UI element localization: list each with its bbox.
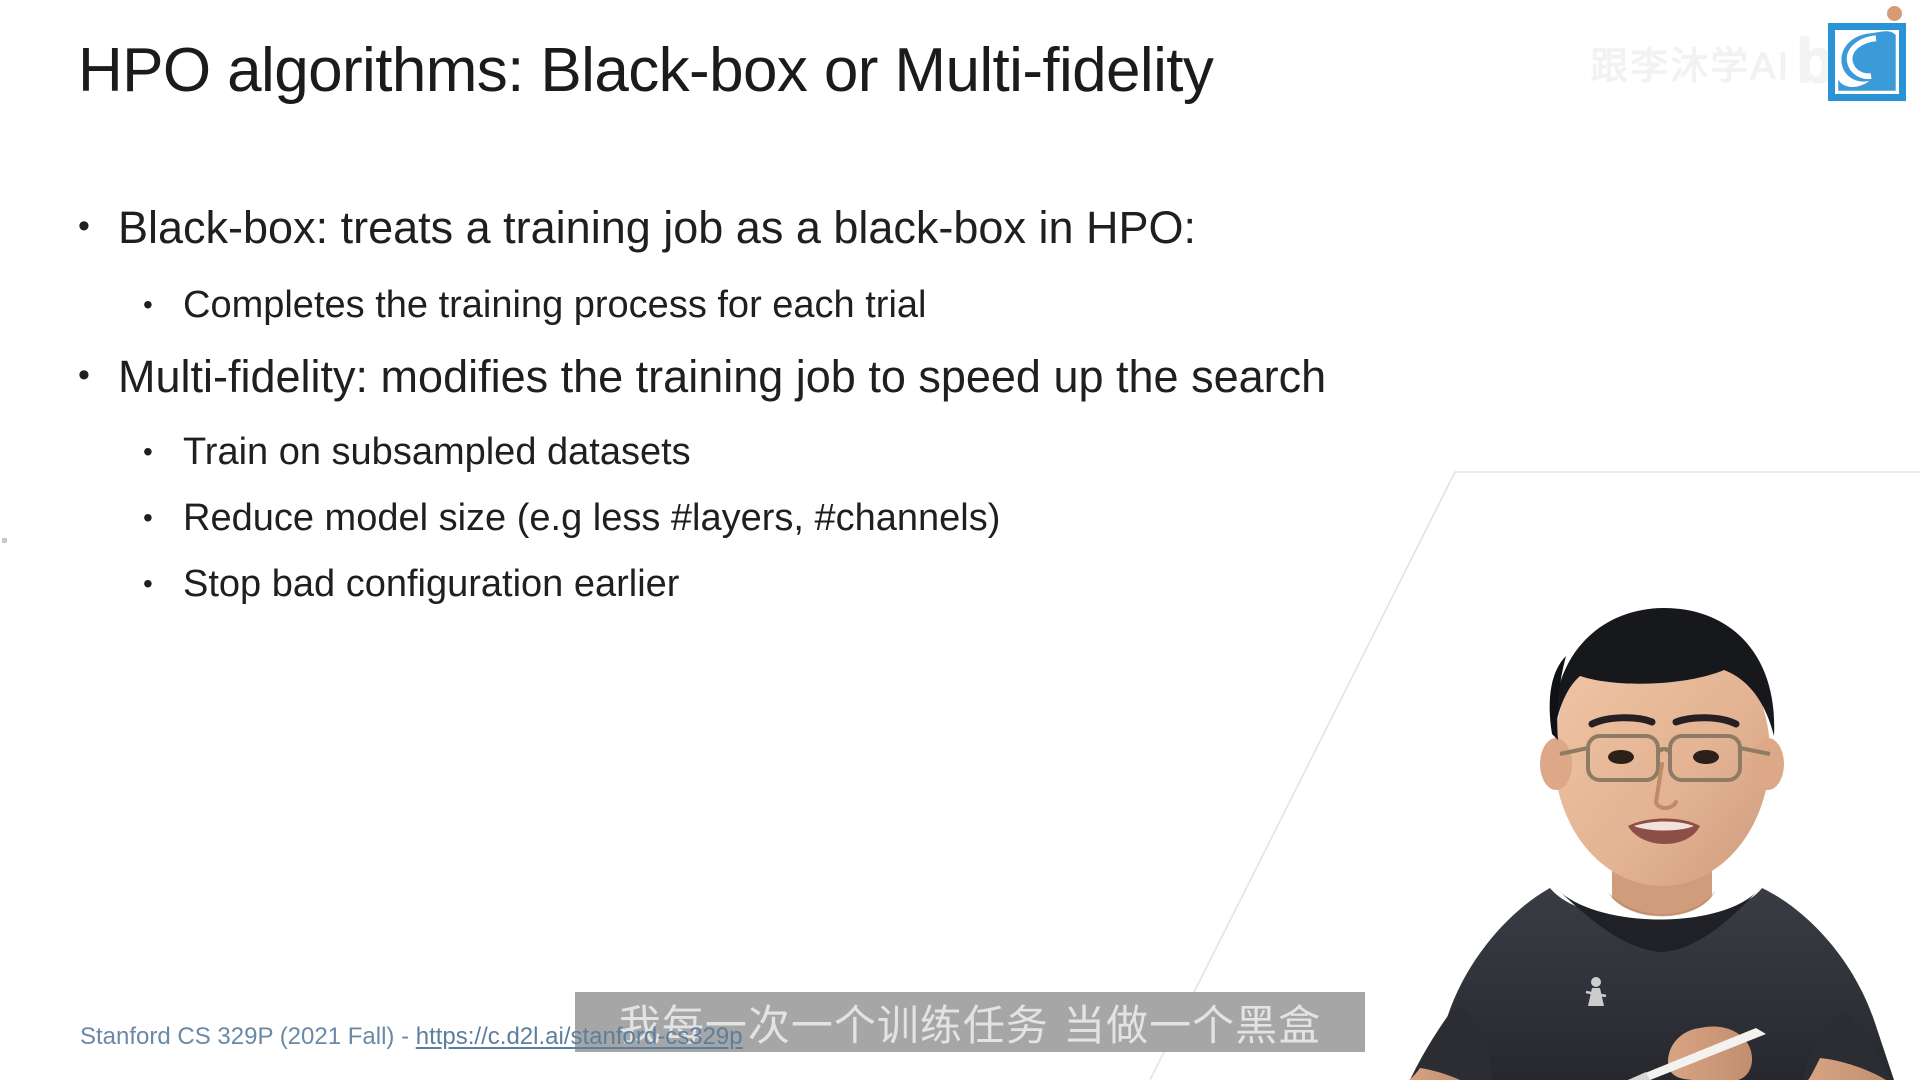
- list-item: • Multi-fidelity: modifies the training …: [78, 354, 1778, 399]
- list-item: • Completes the training process for eac…: [143, 286, 1778, 324]
- list-item-label: Reduce model size (e.g less #layers, #ch…: [183, 499, 1778, 537]
- bilibili-logo-icon: [1828, 23, 1906, 101]
- bullet-dot-icon: •: [78, 205, 118, 245]
- spacer: [78, 324, 1778, 354]
- watermark-brand-letter: b: [1796, 31, 1834, 93]
- recording-indicator-dot: [1887, 6, 1902, 21]
- eye-right: [1693, 750, 1719, 764]
- list-item: • Black-box: treats a training job as a …: [78, 205, 1778, 250]
- list-item: • Reduce model size (e.g less #layers, #…: [143, 499, 1778, 537]
- spacer: [78, 399, 1778, 433]
- ear-left: [1540, 738, 1572, 790]
- bullet-dot-icon: •: [143, 499, 183, 534]
- list-item-label: Multi-fidelity: modifies the training jo…: [118, 354, 1778, 399]
- list-item-label: Completes the training process for each …: [183, 286, 1778, 324]
- bullet-dot-icon: •: [143, 286, 183, 321]
- presenter-figure: [1400, 558, 1920, 1080]
- watermark-channel-label: 跟李沐学AI: [1590, 35, 1790, 90]
- edge-artifact: [2, 538, 7, 543]
- slide-canvas: HPO algorithms: Black-box or Multi-fidel…: [0, 0, 1920, 1080]
- list-item-label: Train on subsampled datasets: [183, 433, 1778, 471]
- ear-right: [1752, 738, 1784, 790]
- footer-link[interactable]: https://c.d2l.ai/stanford-cs329p: [416, 1023, 743, 1050]
- bilibili-watermark: 跟李沐学AI b: [1590, 14, 1906, 110]
- bullet-list: • Black-box: treats a training job as a …: [78, 205, 1778, 603]
- bullet-dot-icon: •: [143, 433, 183, 468]
- bullet-dot-icon: •: [78, 354, 118, 394]
- bilibili-logo-curve: [1835, 30, 1899, 94]
- spacer: [78, 250, 1778, 286]
- footer: Stanford CS 329P (2021 Fall) - https://c…: [80, 1023, 743, 1051]
- bullet-dot-icon: •: [143, 565, 183, 600]
- eye-left: [1608, 750, 1634, 764]
- spacer: [78, 471, 1778, 499]
- footer-prefix: Stanford CS 329P (2021 Fall) -: [80, 1023, 416, 1050]
- page-title: HPO algorithms: Black-box or Multi-fidel…: [78, 36, 1508, 105]
- list-item-label: Black-box: treats a training job as a bl…: [118, 205, 1778, 250]
- list-item: • Train on subsampled datasets: [143, 433, 1778, 471]
